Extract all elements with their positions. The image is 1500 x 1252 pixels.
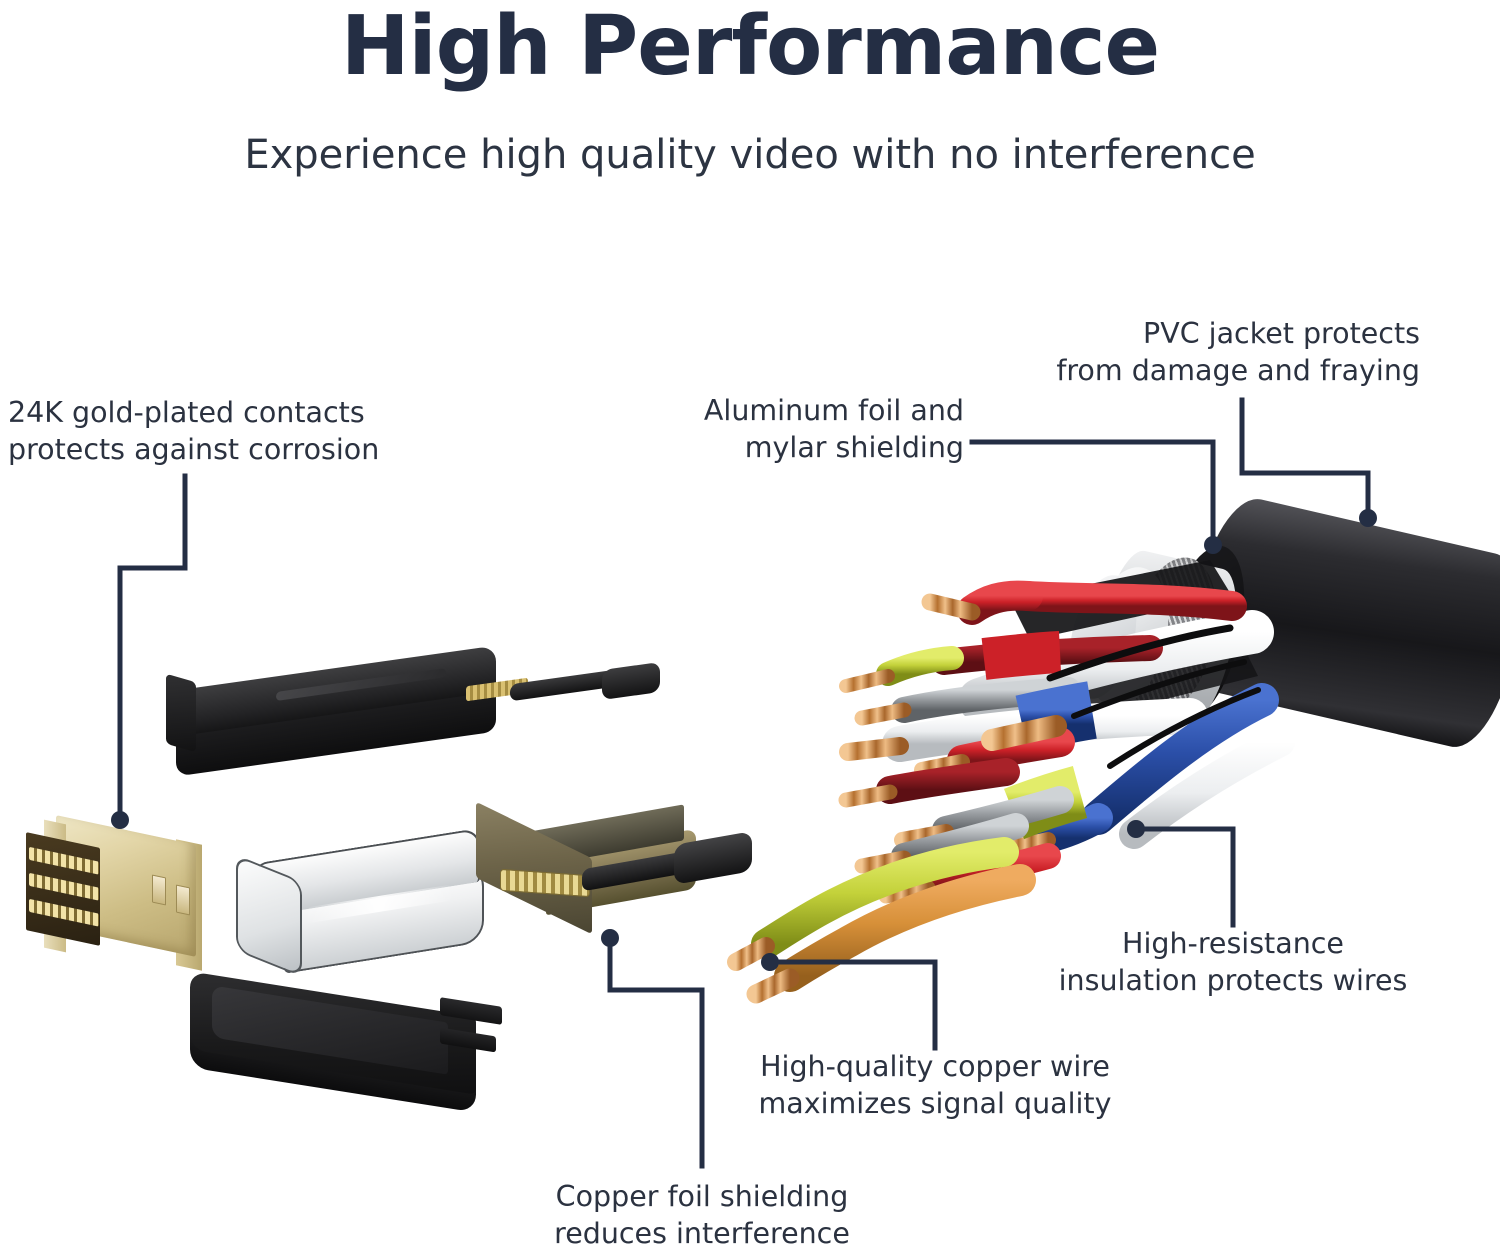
- infographic-canvas: High Performance Experience high quality…: [0, 0, 1500, 1252]
- callout-pvc-jacket: PVC jacket protects from damage and fray…: [992, 315, 1420, 389]
- leader-pvc-jacket: [1242, 400, 1377, 527]
- callout-copper-foil: Copper foil shielding reduces interferen…: [492, 1178, 912, 1252]
- leader-high-resistance-insulation: [1127, 820, 1233, 925]
- leader-copper-foil: [601, 929, 702, 1166]
- callout-aluminum-foil: Aluminum foil and mylar shielding: [612, 392, 964, 466]
- leader-gold-contacts: [111, 476, 185, 829]
- callout-gold-contacts: 24K gold-plated contacts protects agains…: [8, 394, 428, 468]
- leader-copper-wire: [761, 953, 935, 1048]
- callout-copper-wire: High-quality copper wire maximizes signa…: [725, 1048, 1145, 1122]
- callout-high-resistance-insulation: High-resistance insulation protects wire…: [1023, 925, 1443, 999]
- leader-aluminum-foil: [972, 442, 1222, 554]
